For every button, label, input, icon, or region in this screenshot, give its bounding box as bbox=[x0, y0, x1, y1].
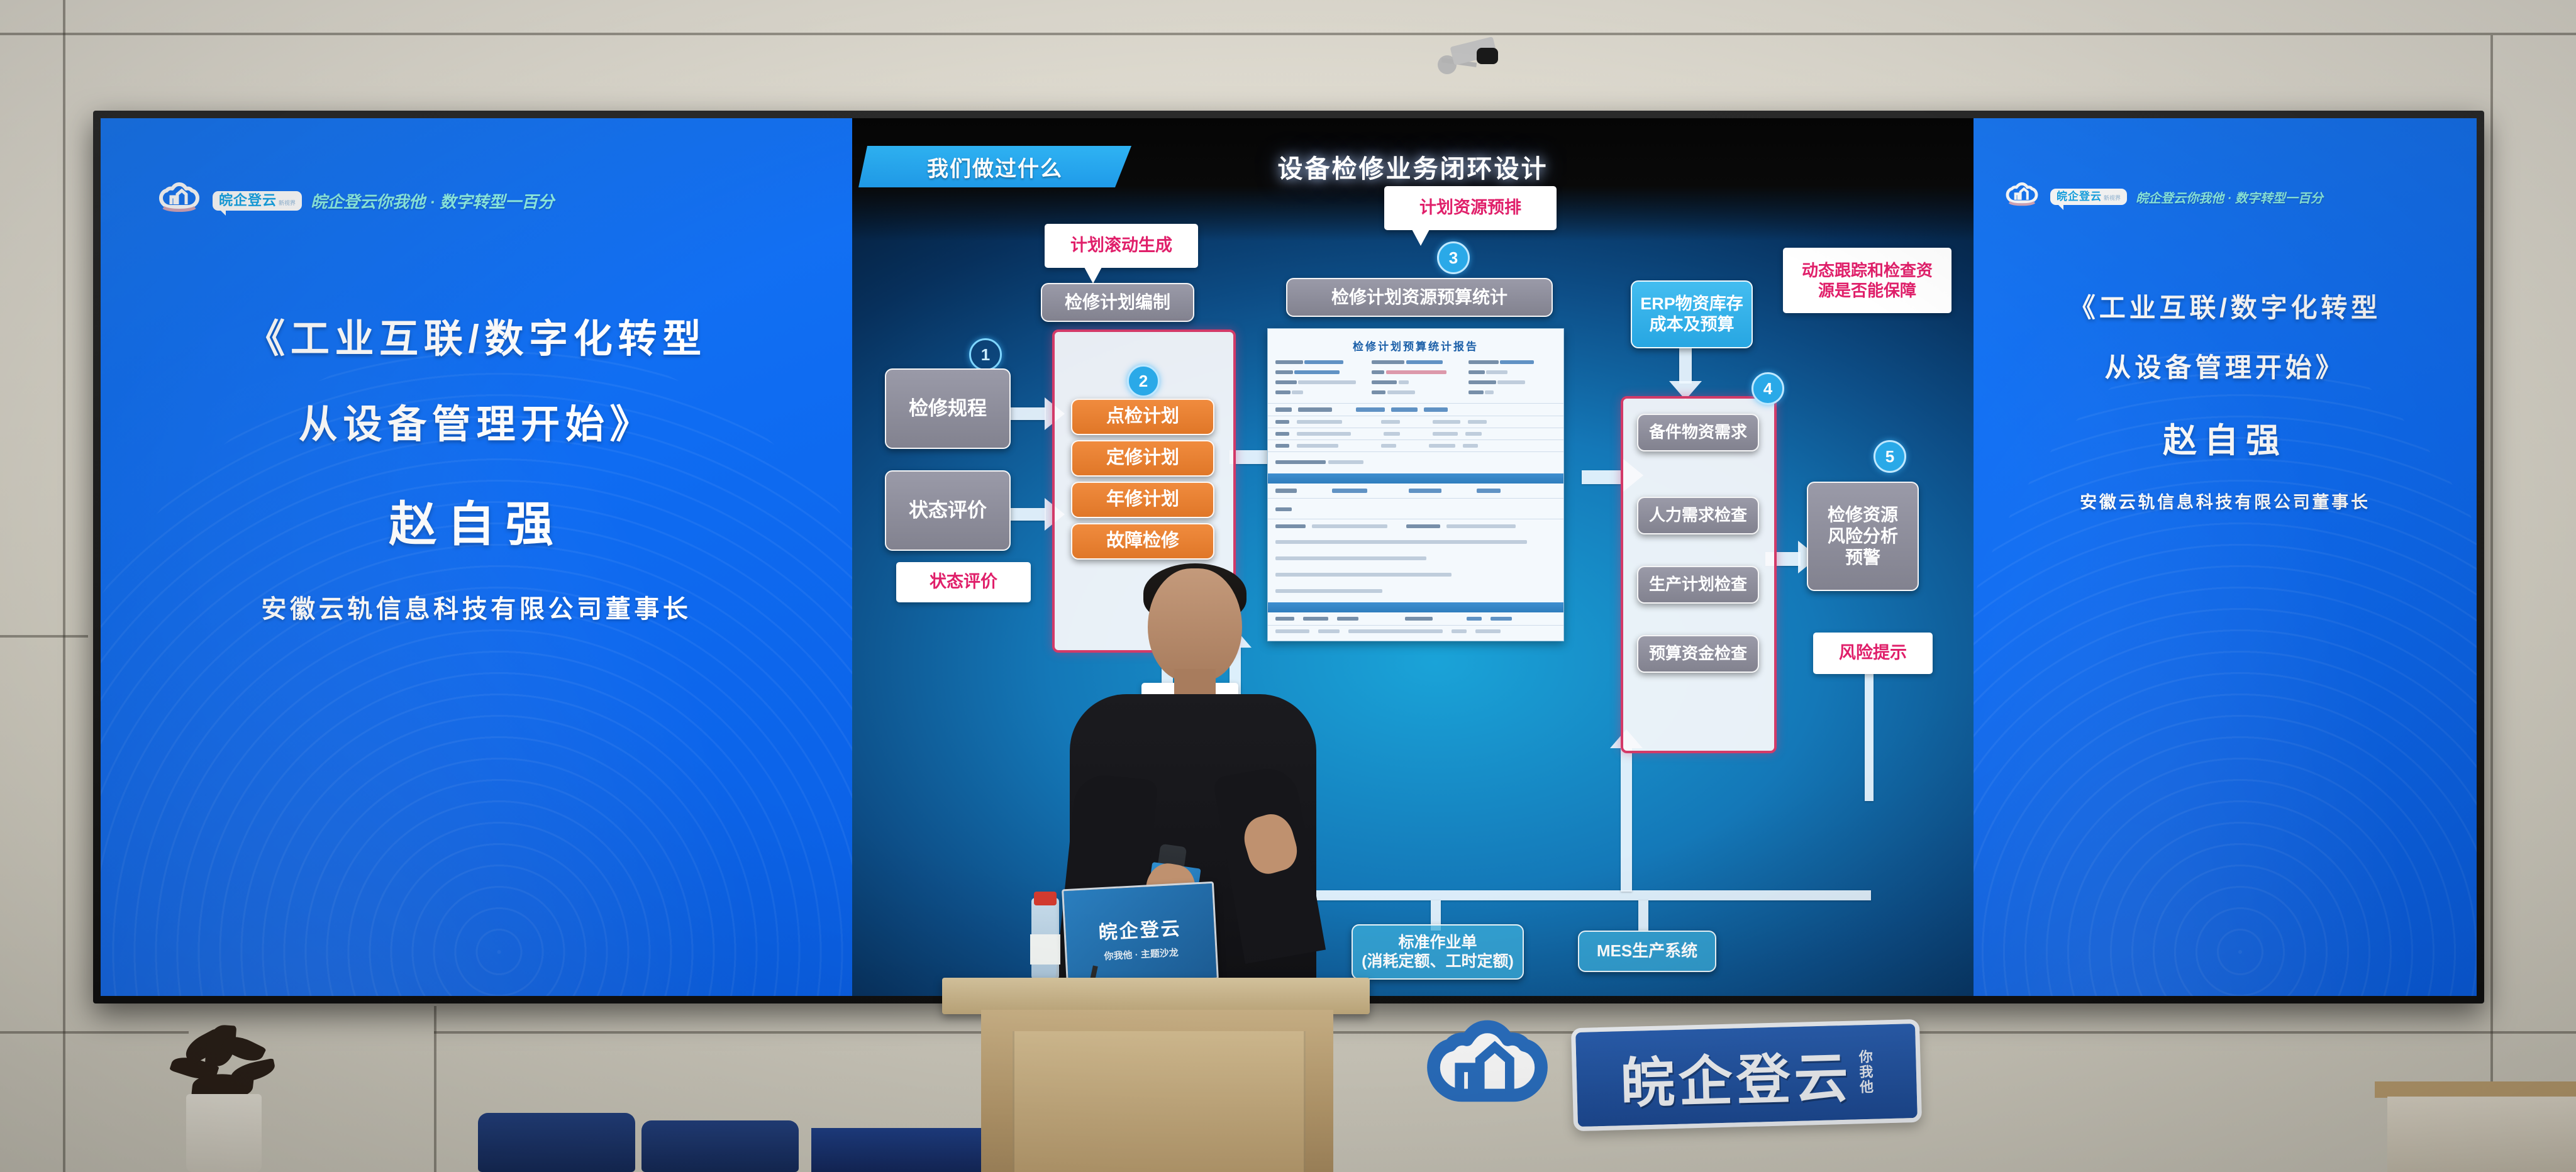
deck-speaker-org: 安徽云轨信息科技有限公司董事长 bbox=[1974, 489, 2477, 513]
node-shengchan-jihua-jiancha: 生产计划检查 bbox=[1637, 566, 1759, 604]
node-renli-xuqiu-jiancha: 人力需求检查 bbox=[1637, 497, 1759, 534]
brand-pill-text: 皖企登云 bbox=[219, 194, 277, 207]
step-number-5: 5 bbox=[1874, 440, 1906, 473]
connector bbox=[1008, 508, 1046, 521]
callout-jihua-gundong: 计划滚动生成 bbox=[1045, 224, 1198, 268]
cloud-logo-icon bbox=[2002, 181, 2041, 213]
podium-top bbox=[942, 978, 1370, 1014]
brand-lockup-left: 皖企登云 新视界 皖企登云你我他 · 数字转型一百分 bbox=[155, 181, 554, 220]
deck-title-line1: 《工业互联/数字化转型 bbox=[101, 307, 852, 363]
callout-fengxian-tishi: 风险提示 bbox=[1813, 633, 1933, 674]
step-number-1: 1 bbox=[969, 338, 1002, 371]
connector bbox=[1621, 747, 1632, 892]
wall-tile-line bbox=[2490, 35, 2493, 1167]
brand-pill-sub: 新视界 bbox=[2104, 196, 2121, 201]
presenter-laptop: 皖企登云 你我他 · 主题沙龙 bbox=[1062, 882, 1219, 987]
node-yusuan-zijin-jiancha: 预算资金检查 bbox=[1637, 635, 1759, 673]
left-deck-copy: 《工业互联/数字化转型 从设备管理开始》 赵自强 安徽云轨信息科技有限公司董事长 bbox=[101, 307, 852, 625]
left-branding-panel: 皖企登云 新视界 皖企登云你我他 · 数字转型一百分 《工业互联/数字化转型 从… bbox=[101, 118, 852, 996]
podium-front-panel bbox=[1013, 1031, 1306, 1172]
laptop-subtitle: 你我他 · 主题沙龙 bbox=[1067, 944, 1216, 965]
node-zhuangtai-pingjia: 状态评价 bbox=[885, 470, 1011, 551]
node-dingxiu-jihua: 定修计划 bbox=[1071, 440, 1214, 477]
audience-chair bbox=[641, 1120, 799, 1172]
node-mes-system: MES生产系统 bbox=[1578, 931, 1716, 972]
brand-pill: 皖企登云 新视界 bbox=[2050, 189, 2127, 205]
node-fengxian-fenxi-yujing: 检修资源 风险分析 预警 bbox=[1807, 482, 1919, 591]
deck-title-line2: 从设备管理开始》 bbox=[1974, 346, 2477, 385]
step-number-2: 2 bbox=[1127, 365, 1160, 397]
callout-zhuangtai-pingjia: 状态评价 bbox=[896, 562, 1031, 602]
presentation-slide: 我们做过什么 设备检修业务闭环设计 bbox=[852, 118, 1974, 996]
cloud-logo-icon bbox=[155, 181, 204, 220]
bottle-cap bbox=[1034, 892, 1057, 905]
conference-room-photo: 皖企登云 新视界 皖企登云你我他 · 数字转型一百分 《工业互联/数字化转型 从… bbox=[0, 0, 2576, 1172]
connector bbox=[1638, 900, 1648, 931]
node-biaozhun-zuoye-dan: 标准作业单 (消耗定额、工时定额) bbox=[1352, 924, 1524, 980]
connector bbox=[1230, 890, 1871, 900]
callout-dongtai-gengzong: 动态跟踪和检查资 源是否能保障 bbox=[1783, 248, 1951, 313]
side-table bbox=[2387, 1097, 2576, 1172]
right-branding-panel: 皖企登云 新视界 皖企登云你我他 · 数字转型一百分 《工业互联/数字化转型 从… bbox=[1974, 118, 2477, 996]
wall-sign-subtext: 你我他 bbox=[1857, 1049, 1873, 1095]
report-title: 检修计划预算统计报告 bbox=[1268, 338, 1563, 353]
connector bbox=[1582, 470, 1626, 484]
deck-speaker-name: 赵自强 bbox=[1974, 412, 2477, 462]
brand-lockup-right: 皖企登云 新视界 皖企登云你我他 · 数字转型一百分 bbox=[2002, 181, 2323, 213]
deck-title-line1: 《工业互联/数字化转型 bbox=[1974, 287, 2477, 325]
node-beijian-wuzi-xuqiu: 备件物资需求 bbox=[1637, 414, 1759, 451]
step-number-4: 4 bbox=[1752, 372, 1784, 405]
brand-slogan: 皖企登云你我他 · 数字转型一百分 bbox=[2136, 188, 2323, 206]
wall-tile-line bbox=[0, 635, 88, 638]
connector bbox=[1008, 407, 1046, 420]
node-jianxiu-guicheng: 检修规程 bbox=[885, 368, 1011, 449]
node-jianxiu-jihua-bianzhi: 检修计划编制 bbox=[1041, 283, 1194, 322]
node-nianxiu-jihua: 年修计划 bbox=[1071, 482, 1214, 518]
wall-tile-line bbox=[434, 1006, 436, 1172]
slide-title: 设备检修业务闭环设计 bbox=[852, 148, 1974, 185]
side-table-top bbox=[2375, 1081, 2576, 1098]
step-number-3: 3 bbox=[1437, 241, 1470, 274]
wall-tile-line bbox=[0, 1031, 189, 1034]
node-yusuan-tongji: 检修计划资源预算统计 bbox=[1286, 278, 1553, 317]
potted-plant-pot bbox=[186, 1094, 262, 1172]
security-camera-icon bbox=[1438, 38, 1498, 72]
wall-sign-cloud-logo-icon bbox=[1415, 1012, 1560, 1141]
laptop-brand: 皖企登云 bbox=[1065, 911, 1215, 946]
deck-speaker-org: 安徽云轨信息科技有限公司董事长 bbox=[101, 589, 852, 625]
wall-sign-text: 皖企登云 bbox=[1619, 1033, 1853, 1118]
right-deck-copy: 《工业互联/数字化转型 从设备管理开始》 赵自强 安徽云轨信息科技有限公司董事长 bbox=[1974, 287, 2477, 513]
connector bbox=[1679, 348, 1692, 384]
brand-pill-text: 皖企登云 bbox=[2057, 191, 2102, 202]
audience-chair bbox=[478, 1113, 635, 1172]
node-erp-wuzi-kucun: ERP物资库存 成本及预算 bbox=[1631, 280, 1753, 348]
node-dianjian-jihua: 点检计划 bbox=[1071, 399, 1214, 435]
wall-tile-line bbox=[0, 33, 2576, 35]
wall-sign-plate: 皖企登云 你我他 bbox=[1571, 1019, 1922, 1131]
wall-tile-line bbox=[63, 0, 65, 1172]
deck-title-line2: 从设备管理开始》 bbox=[101, 392, 852, 449]
led-video-wall: 皖企登云 新视界 皖企登云你我他 · 数字转型一百分 《工业互联/数字化转型 从… bbox=[101, 118, 2477, 996]
connector bbox=[1865, 656, 1874, 801]
brand-pill: 皖企登云 新视界 bbox=[213, 191, 302, 211]
callout-jihua-ziyuan-yupai: 计划资源预排 bbox=[1384, 186, 1557, 230]
deck-speaker-name: 赵自强 bbox=[101, 485, 852, 555]
brand-pill-sub: 新视界 bbox=[279, 201, 296, 206]
node-guzhang-jianxiu: 故障检修 bbox=[1071, 523, 1214, 560]
bottle-label bbox=[1030, 934, 1060, 965]
brand-slogan: 皖企登云你我他 · 数字转型一百分 bbox=[311, 189, 554, 213]
